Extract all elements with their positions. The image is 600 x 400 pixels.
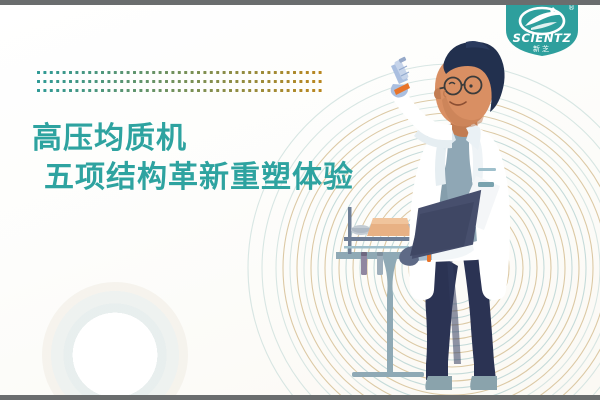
page-title: 高压均质机 五项结构革新重塑体验 — [30, 122, 354, 196]
scientz-logo[interactable]: ® SCIENTZ 新芝 — [498, 0, 586, 56]
hand-with-vial — [391, 56, 410, 97]
dot-gradient-pattern — [37, 69, 325, 97]
scientist-figure — [390, 41, 510, 390]
headline-line-2: 五项结构革新重塑体验 — [44, 161, 354, 196]
promo-banner: 高压均质机 五项结构革新重塑体验 ® SCIENTZ 新芝 — [0, 0, 600, 400]
headline-line-1: 高压均质机 — [32, 122, 354, 157]
top-chrome-bar — [0, 0, 600, 5]
head — [434, 41, 505, 128]
bottom-chrome-bar — [0, 395, 600, 400]
logo-wordmark: SCIENTZ — [513, 31, 572, 45]
registered-mark: ® — [568, 4, 575, 12]
scientist-illustration — [0, 0, 600, 400]
logo-wordmark-cn: 新芝 — [533, 44, 551, 53]
